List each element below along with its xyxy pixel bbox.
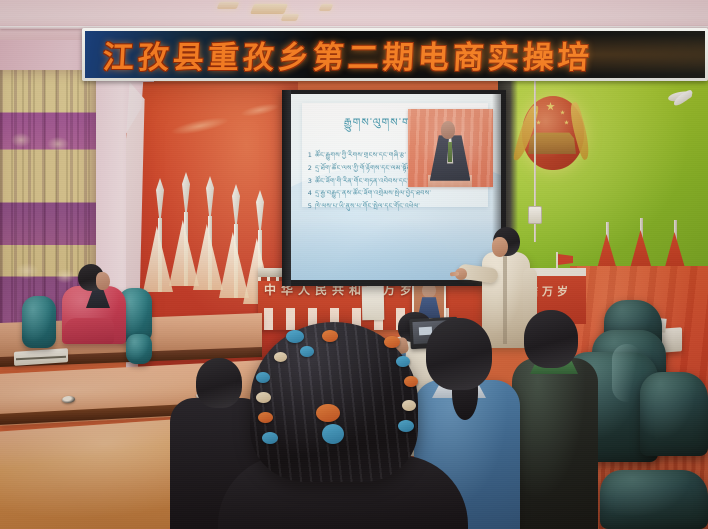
curtain-motif [10, 132, 32, 148]
ceiling-light-icon [250, 4, 288, 14]
instructor-jacket-placket [503, 256, 507, 344]
chair-teal[interactable] [126, 334, 152, 364]
chair-teal[interactable] [22, 296, 56, 348]
student-green-collar-head [524, 310, 578, 368]
seated-man-face [96, 272, 110, 290]
hair-bead [322, 330, 338, 342]
hair-ornament [316, 404, 340, 422]
list-item: 4དྲ་རྒྱ་བརྒྱུད་ནས་ཚོང་ཟོག་འགྲེམས་སྤེལ་བྱ… [308, 187, 489, 200]
mural-spear-icon [206, 176, 223, 290]
wall-paper-sheet [362, 286, 385, 320]
hair-bead [402, 400, 416, 411]
ceiling-light-icon [281, 14, 300, 21]
curtain-motif [46, 136, 70, 152]
hair-bead [286, 330, 304, 343]
projection-screen-frame: རྒྱུགས་ལུགས་གསར་བརྗེ 1ཚོང་རྒྱུགས་ཀྱི་རིག… [282, 90, 506, 286]
curtain-motif [14, 262, 40, 280]
hair-bead [300, 346, 314, 357]
screen-bezel [282, 90, 291, 286]
hair-bead [258, 412, 273, 423]
mural-spear-icon [182, 172, 199, 286]
mural-spear-icon [156, 178, 173, 292]
student-green-collar-body [512, 358, 598, 529]
mural-spear-icon [232, 184, 249, 298]
banner-text: 江孜县重孜乡第二期电商实操培 [92, 32, 594, 77]
dove-icon [668, 92, 702, 110]
hair-bead [396, 356, 410, 367]
slide-photo-speaker [408, 109, 493, 187]
chair-dark[interactable] [640, 372, 708, 456]
hair-bead [262, 432, 278, 444]
chair-highlight [612, 344, 642, 402]
student-blue-jacket-head [426, 318, 492, 390]
hair-bead [274, 352, 287, 362]
banner-frame: 江孜县重孜乡第二期电商实操培 [82, 28, 708, 81]
hair-bead [256, 372, 270, 383]
hair-bead [256, 392, 271, 403]
wall-switch[interactable] [528, 206, 542, 224]
chair-dark[interactable] [600, 470, 708, 529]
list-item: 5ཁེ་ལས་པ་ཡི་ནུས་པ་གོང་སྤེལ་དང་གོང་འཕེལ་ [308, 200, 489, 213]
hair-ornament [322, 424, 344, 444]
hair-bead [398, 420, 414, 432]
curtain-motif [54, 268, 76, 284]
hair-bead [384, 336, 400, 348]
seated-man-arm [64, 318, 114, 344]
ceiling-light-icon [217, 2, 240, 9]
audience-member-head [196, 358, 242, 408]
speaker-tie [448, 142, 452, 162]
banner: 江孜县重孜乡第二期电商实操培 [85, 31, 705, 78]
instructor-face [492, 237, 508, 257]
hair-bead [404, 376, 418, 387]
speaker-head [441, 121, 455, 138]
projection-screen[interactable]: རྒྱུགས་ལུགས་གསར་བརྗེ 1ཚོང་རྒྱུགས་ཀྱི་རིག… [289, 94, 501, 280]
